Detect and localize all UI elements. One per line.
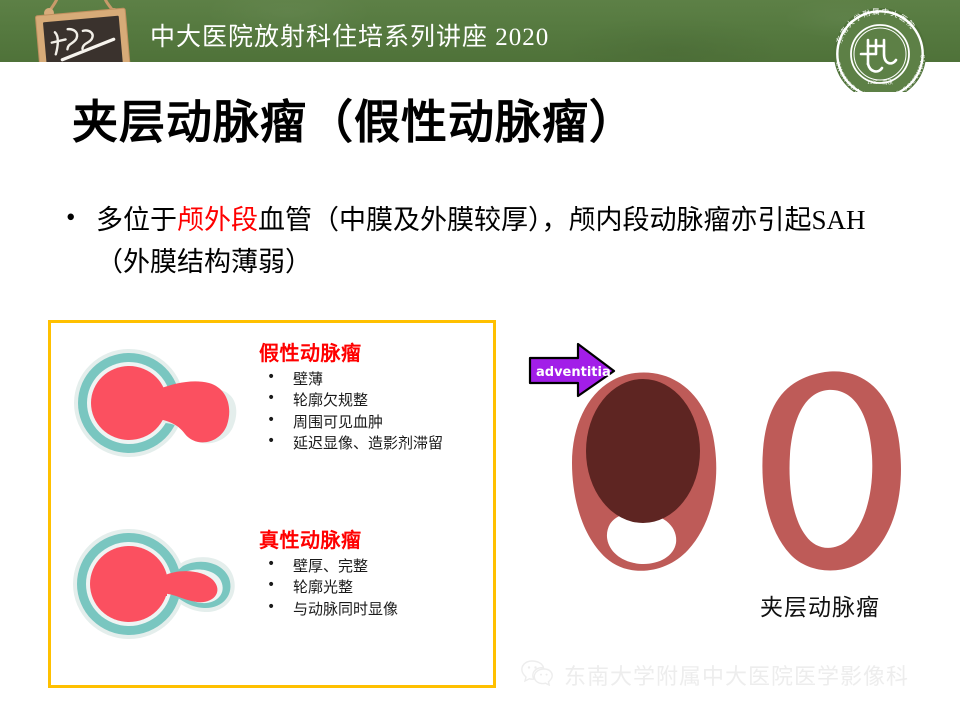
- true-aneurysm-diagram: [63, 518, 278, 668]
- vessel-open-lumen: [762, 371, 901, 570]
- main-bullet: • 多位于颅外段血管（中膜及外膜较厚），颅内段动脉瘤亦引起SAH（外膜结构薄弱）: [66, 200, 896, 284]
- watermark-text: 东南大学附属中大医院医学影像科: [564, 659, 909, 691]
- list-bullet-icon: •: [267, 411, 275, 431]
- list-item: •周围可见血肿: [259, 412, 499, 433]
- true-aneurysm-list: •壁厚、完整 •轮廓光整 •与动脉同时显像: [259, 556, 499, 620]
- true-aneurysm-row: 真性动脉瘤 •壁厚、完整 •轮廓光整 •与动脉同时显像: [51, 518, 499, 673]
- list-bullet-icon: •: [267, 389, 275, 409]
- wechat-watermark: 东南大学附属中大医院医学影像科: [520, 658, 909, 691]
- list-item-label: 与动脉同时显像: [293, 600, 398, 618]
- blackboard-sign-icon: [22, 0, 142, 62]
- header-title: 中大医院放射科住培系列讲座 2020: [150, 17, 549, 53]
- dissection-caption: 夹层动脉瘤: [700, 588, 940, 622]
- pseudoaneurysm-text: 假性动脉瘤 •壁薄 •轮廓欠规整 •周围可见血肿 •延迟显像、造影剂滞留: [259, 337, 499, 454]
- list-item: •轮廓欠规整: [259, 390, 499, 411]
- list-item-label: 周围可见血肿: [293, 413, 383, 431]
- bullet-text-highlight: 颅外段: [177, 205, 258, 235]
- list-item: •与动脉同时显像: [259, 599, 499, 620]
- list-bullet-icon: •: [267, 555, 275, 575]
- pseudoaneurysm-heading: 假性动脉瘤: [259, 337, 499, 366]
- header-banner: 中大医院放射科住培系列讲座 2020: [0, 0, 960, 62]
- list-item: •轮廓光整: [259, 577, 499, 598]
- vessel-with-thrombus: [572, 372, 716, 570]
- bullet-marker: •: [66, 204, 75, 231]
- list-bullet-icon: •: [267, 576, 275, 596]
- university-seal-logo: 东南大学附属中大医院 ZHONGDA HOSPITAL SOUTHEAST UN…: [818, 2, 942, 92]
- wechat-icon: [520, 658, 554, 691]
- true-aneurysm-heading: 真性动脉瘤: [259, 524, 499, 553]
- pseudoaneurysm-list: •壁薄 •轮廓欠规整 •周围可见血肿 •延迟显像、造影剂滞留: [259, 369, 499, 454]
- page-title: 夹层动脉瘤（假性动脉瘤）: [72, 95, 902, 150]
- list-item: •壁薄: [259, 369, 499, 390]
- true-aneurysm-text: 真性动脉瘤 •壁厚、完整 •轮廓光整 •与动脉同时显像: [259, 524, 499, 620]
- bullet-text-part1: 多位于: [96, 205, 177, 235]
- list-bullet-icon: •: [267, 368, 275, 388]
- list-bullet-icon: •: [267, 598, 275, 618]
- list-item-label: 壁厚、完整: [293, 557, 368, 575]
- list-item: •延迟显像、造影剂滞留: [259, 433, 499, 454]
- pseudoaneurysm-row: 假性动脉瘤 •壁薄 •轮廓欠规整 •周围可见血肿 •延迟显像、造影剂滞留: [51, 331, 499, 486]
- list-item-label: 轮廓欠规整: [293, 391, 368, 409]
- comparison-box: 假性动脉瘤 •壁薄 •轮廓欠规整 •周围可见血肿 •延迟显像、造影剂滞留: [48, 320, 496, 688]
- list-item-label: 轮廓光整: [293, 578, 353, 596]
- pseudoaneurysm-diagram: [63, 331, 278, 481]
- list-item-label: 延迟显像、造影剂滞留: [293, 434, 443, 452]
- adventitia-arrow-label: adventitia: [536, 365, 611, 380]
- bullet-text: 多位于颅外段血管（中膜及外膜较厚），颅内段动脉瘤亦引起SAH（外膜结构薄弱）: [96, 200, 896, 284]
- list-bullet-icon: •: [267, 432, 275, 452]
- svg-text:1935 · 南京: 1935 · 南京: [867, 78, 894, 86]
- list-item: •壁厚、完整: [259, 556, 499, 577]
- list-item-label: 壁薄: [293, 370, 323, 388]
